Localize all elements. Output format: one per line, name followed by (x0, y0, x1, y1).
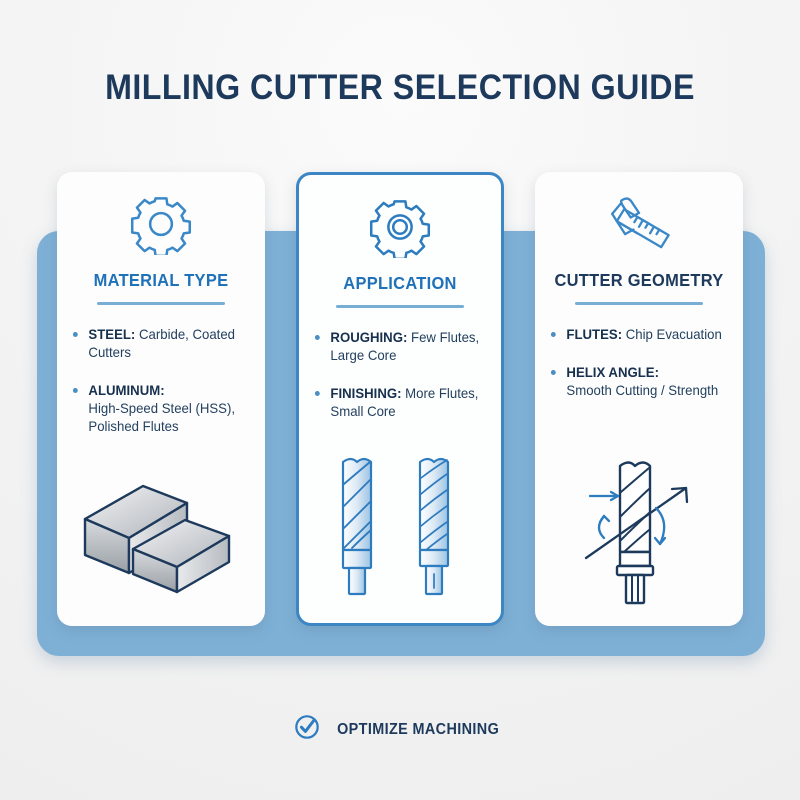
helix-angle-end-mill-illustration (535, 452, 743, 612)
bullet-label: STEEL: (88, 327, 135, 342)
card-title: CUTTER GEOMETRY (541, 270, 737, 291)
card-cutter-geometry[interactable]: CUTTER GEOMETRY FLUTES: Chip Evacuation … (535, 172, 743, 626)
footer: OPTIMIZE MACHINING (0, 714, 800, 745)
gear-icon (57, 172, 265, 270)
list-item: ALUMINUM: High-Speed Steel (HSS), Polish… (70, 382, 246, 436)
bullet-label: FLUTES: (566, 327, 622, 342)
bullet-list: STEEL: Carbide, Coated Cutters ALUMINUM:… (57, 326, 265, 436)
bullet-text: Chip Evacuation (626, 327, 722, 342)
two-end-mills-illustration (299, 444, 501, 609)
caliper-icon (535, 172, 743, 270)
list-item: ROUGHING: Few Flutes, Large Core (312, 329, 482, 365)
bullet-label: ROUGHING: (330, 330, 407, 345)
metal-blocks-illustration (57, 472, 265, 612)
bullet-label: FINISHING: (330, 386, 401, 401)
card-material-type[interactable]: MATERIAL TYPE STEEL: Carbide, Coated Cut… (57, 172, 265, 626)
bullet-text: Smooth Cutting / Strength (566, 383, 718, 398)
cards-container: MATERIAL TYPE STEEL: Carbide, Coated Cut… (0, 0, 800, 800)
card-title: APPLICATION (305, 273, 495, 294)
bullet-list: FLUTES: Chip Evacuation HELIX ANGLE: Smo… (535, 326, 743, 400)
gear-icon (299, 175, 501, 273)
bullet-text: High-Speed Steel (HSS), Polished Flutes (88, 401, 235, 434)
list-item: FINISHING: More Flutes, Small Core (312, 385, 482, 421)
list-item: HELIX ANGLE: Smooth Cutting / Strength (548, 364, 724, 400)
infographic-canvas: MILLING CUTTER SELECTION GUIDE MATERIAL … (0, 0, 800, 800)
list-item: STEEL: Carbide, Coated Cutters (70, 326, 246, 362)
footer-label: OPTIMIZE MACHINING (337, 721, 499, 739)
bullet-list: ROUGHING: Few Flutes, Large Core FINISHI… (299, 329, 501, 421)
list-item: FLUTES: Chip Evacuation (548, 326, 724, 344)
bullet-label: HELIX ANGLE: (566, 365, 659, 380)
title-divider (575, 302, 703, 305)
check-circle-icon (294, 714, 320, 745)
card-application[interactable]: APPLICATION ROUGHING: Few Flutes, Large … (296, 172, 504, 626)
card-title: MATERIAL TYPE (63, 270, 259, 291)
title-divider (97, 302, 225, 305)
title-divider (336, 305, 464, 308)
bullet-label: ALUMINUM: (88, 383, 164, 398)
